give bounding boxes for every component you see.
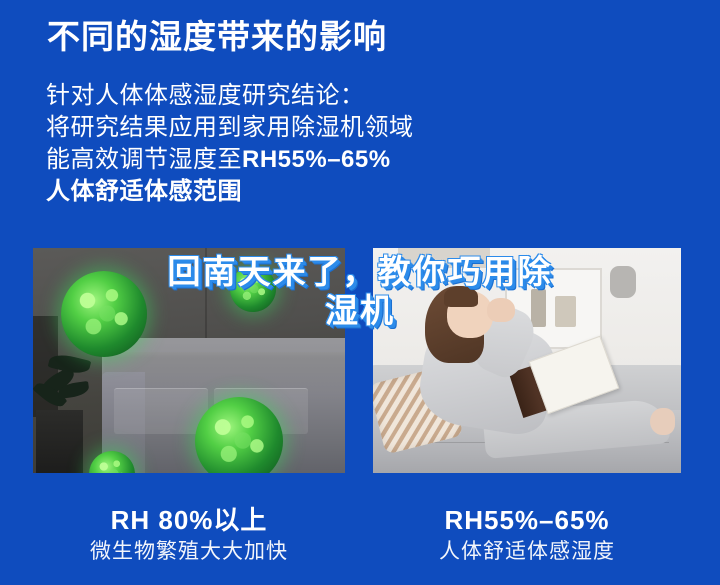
poster-root: 不同的湿度带来的影响 针对人体体感湿度研究结论： 将研究结果应用到家用除湿机领域… (0, 0, 720, 585)
dark-sofa-cushion (114, 388, 208, 434)
wall-frame-top (398, 248, 490, 268)
caption-right-main: RH55%–65% (373, 503, 681, 537)
person-hair-top (444, 286, 478, 306)
caption-left-main: RH 80%以上 (33, 503, 345, 537)
intro-line-3-emphasis: RH55%–65% (242, 146, 391, 173)
plant-pot (36, 410, 83, 473)
caption-left-sub: 微生物繁殖大大加快 (33, 537, 345, 567)
intro-line-1: 针对人体体感湿度研究结论： (46, 80, 506, 112)
caption-left: RH 80%以上 微生物繁殖大大加快 (33, 503, 345, 567)
page-title: 不同的湿度带来的影响 (47, 17, 387, 57)
intro-line-4: 人体舒适体感范围 (46, 176, 506, 208)
intro-line-3-prefix: 能高效调节湿度至 (46, 146, 242, 173)
intro-line-2: 将研究结果应用到家用除湿机领域 (46, 112, 506, 144)
person-foot (650, 408, 675, 435)
microbe-icon (230, 266, 276, 312)
person-hand (487, 298, 515, 323)
wall-speaker-icon (610, 266, 636, 298)
photo-left-high-humidity (33, 248, 345, 473)
intro-line-3: 能高效调节湿度至RH55%–65% (46, 144, 506, 176)
photo-right-comfort-humidity (373, 248, 681, 473)
microbe-icon (61, 271, 147, 357)
caption-right: RH55%–65% 人体舒适体感湿度 (373, 503, 681, 567)
intro-text-block: 针对人体体感湿度研究结论： 将研究结果应用到家用除湿机领域 能高效调节湿度至RH… (46, 80, 506, 208)
caption-right-sub: 人体舒适体感湿度 (373, 537, 681, 567)
wall-seam (205, 248, 207, 352)
